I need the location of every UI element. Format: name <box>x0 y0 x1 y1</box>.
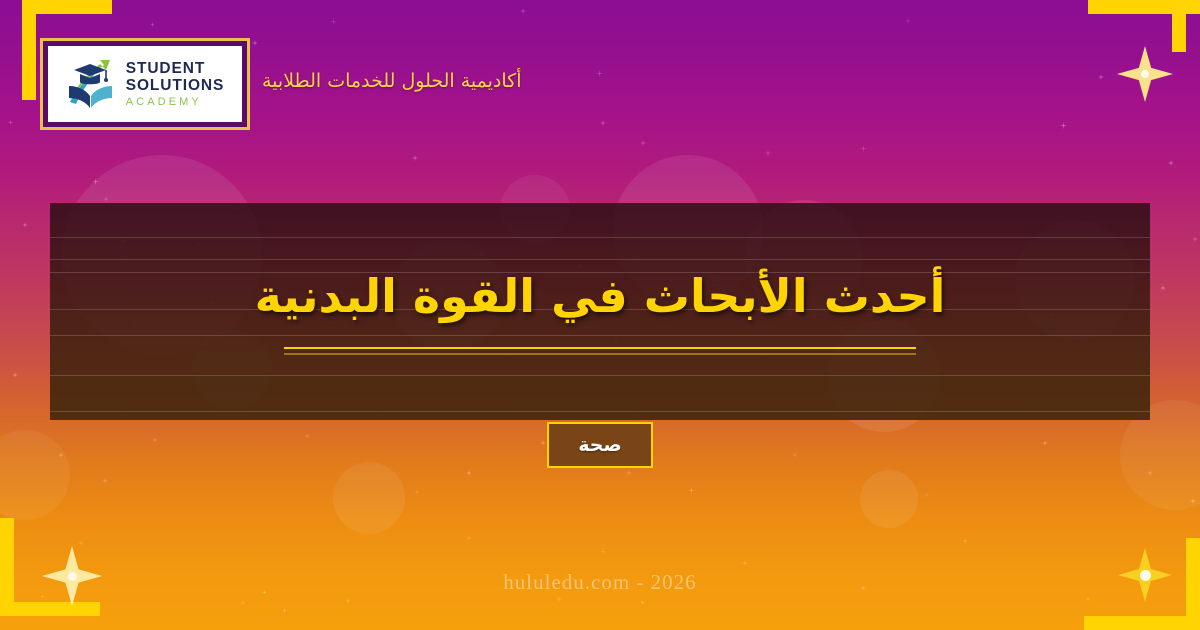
logo-plate: STUDENT SOLUTIONS ACADEMY <box>48 46 242 122</box>
sparkle-dot <box>282 608 287 613</box>
page-title: أحدث الأبحاث في القوة البدنية <box>255 268 946 326</box>
sparkle-dot <box>304 433 310 439</box>
title-underline <box>284 347 916 355</box>
sparkle-dot <box>924 492 930 498</box>
graduation-cap-growth-icon <box>66 56 118 112</box>
sparkle-dot <box>792 452 798 458</box>
sparkle-dot <box>466 470 472 476</box>
sparkle-dot <box>1168 160 1174 166</box>
sparkle-dot <box>688 487 695 494</box>
brand-logo[interactable]: STUDENT SOLUTIONS ACADEMY <box>40 38 250 130</box>
sparkle-dot <box>640 140 646 146</box>
sparkle-dot <box>640 600 645 605</box>
logo-line-1: STUDENT <box>126 61 225 77</box>
decorative-circle <box>333 462 405 534</box>
title-block: أحدث الأبحاث في القوة البدنية <box>50 203 1150 420</box>
sparkle-dot <box>12 372 18 378</box>
decorative-circle <box>0 430 70 520</box>
sparkle-dot <box>240 600 246 606</box>
sparkle-dot <box>152 437 158 443</box>
footer-watermark: hululedu.com - 2026 <box>0 570 1200 595</box>
sparkle-dot <box>150 22 155 27</box>
sparkle-dot <box>1060 122 1067 129</box>
sparkle-dot <box>905 18 911 24</box>
decorative-circle <box>860 470 918 528</box>
sparkle-dot <box>596 70 603 77</box>
sparkle-dot <box>765 150 771 156</box>
sparkle-dot <box>466 535 472 541</box>
sparkle-dot <box>412 155 418 161</box>
sparkle-dot <box>22 222 28 228</box>
sparkle-dot <box>860 145 867 152</box>
sparkle-dot <box>414 489 420 495</box>
sparkle-dot <box>626 470 632 476</box>
sparkle-dot <box>1042 440 1048 446</box>
sparkle-dot <box>345 598 351 604</box>
sparkle-dot <box>600 548 607 555</box>
sparkle-dot <box>102 478 108 484</box>
logo-line-2: SOLUTIONS <box>126 78 225 94</box>
category-badge[interactable]: صحة <box>547 422 653 468</box>
sparkle-dot <box>600 120 606 126</box>
category-badge-label: صحة <box>578 434 622 456</box>
sparkle-dot <box>252 40 258 46</box>
sparkle-dot <box>330 18 337 25</box>
sparkle-dot <box>556 596 562 602</box>
sparkle-dot <box>520 8 526 14</box>
sparkle-dot <box>1192 236 1198 242</box>
logo-line-3: ACADEMY <box>126 97 225 108</box>
sparkle-star-core <box>1141 70 1149 78</box>
sparkle-dot <box>540 440 546 446</box>
sparkle-dot <box>742 560 748 566</box>
sparkle-dot <box>1160 285 1166 291</box>
sparkle-dot <box>962 538 968 544</box>
sparkle-dot <box>8 120 13 125</box>
poster-canvas: STUDENT SOLUTIONS ACADEMY أكاديمية الحلو… <box>0 0 1200 630</box>
brand-arabic-name: أكاديمية الحلول للخدمات الطلابية <box>262 70 522 92</box>
